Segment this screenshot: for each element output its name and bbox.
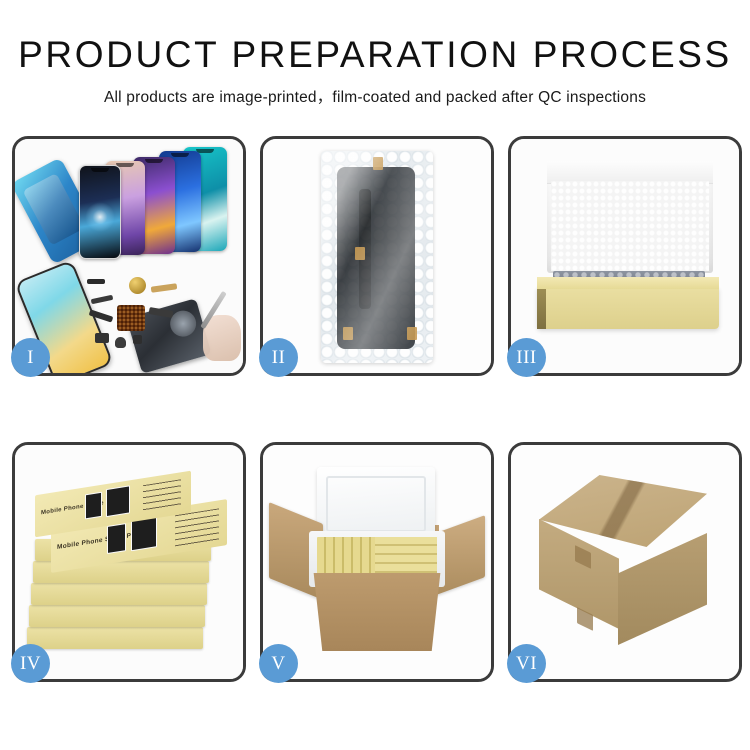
process-step-panel-2: II [260, 136, 494, 376]
step-badge-1: I [11, 338, 50, 377]
stacked-box [27, 627, 203, 649]
label-window [106, 485, 130, 517]
notch-icon [145, 159, 163, 163]
label-window [107, 523, 126, 554]
header: PRODUCT PREPARATION PROCESS All products… [0, 0, 750, 107]
stacked-box [29, 605, 205, 627]
small-part [115, 337, 126, 348]
process-step-panel-4: Mobile Phone Spare Parts Mobile Phone Sp… [12, 442, 246, 682]
wallpaper-burst [85, 202, 115, 232]
tape-strip [407, 327, 417, 340]
page-subtitle: All products are image-printed，film-coat… [0, 85, 750, 107]
product-preparation-infographic: PRODUCT PREPARATION PROCESS All products… [0, 0, 750, 750]
tape-strip [355, 247, 365, 260]
label-spec-lines [175, 508, 219, 549]
flex-cable-part [151, 283, 178, 293]
small-part [87, 279, 105, 284]
step-5-photo [263, 445, 491, 679]
step-badge-4: IV [11, 644, 50, 683]
tape-strip [373, 157, 383, 170]
spare-parts-cluster [89, 279, 209, 369]
process-step-panel-6: VI [508, 442, 742, 682]
process-step-grid: I II III [12, 136, 738, 682]
notch-icon [171, 153, 189, 157]
phone-lineup [75, 147, 243, 267]
wrapped-screen [337, 167, 415, 349]
carton-front-wall [305, 573, 449, 651]
box-stack: Mobile Phone Spare Parts Mobile Phone Sp… [21, 459, 241, 665]
flex-cable-part [91, 295, 114, 304]
bubble-wrap-bag [321, 151, 433, 363]
stacked-box [31, 583, 207, 605]
process-step-panel-5: V [260, 442, 494, 682]
foam-sheet [551, 181, 709, 271]
step-badge-2: II [259, 338, 298, 377]
step-4-photo: Mobile Phone Spare Parts Mobile Phone Sp… [15, 445, 243, 679]
step-badge-3: III [507, 338, 546, 377]
coil-part [129, 277, 146, 294]
flex-cable-part [149, 307, 174, 318]
yellow-box-base [537, 287, 719, 329]
phone-5-front-glass [79, 165, 121, 259]
step-6-photo [511, 445, 739, 679]
foam-lid-open [317, 467, 435, 541]
step-3-photo [511, 139, 739, 373]
small-part [95, 333, 109, 343]
process-step-panel-1: I [12, 136, 246, 376]
step-1-photo [15, 139, 243, 373]
step-badge-6: VI [507, 644, 546, 683]
step-2-photo [263, 139, 491, 373]
label-spec-lines [143, 479, 181, 513]
page-title: PRODUCT PREPARATION PROCESS [0, 36, 750, 73]
carton-right-face [618, 533, 707, 645]
small-part [133, 335, 142, 344]
label-window [85, 492, 102, 520]
notch-icon [91, 168, 109, 172]
tape-strip [343, 327, 353, 340]
flex-cable-part [89, 309, 114, 322]
process-step-panel-3: III [508, 136, 742, 376]
step-badge-5: V [259, 644, 298, 683]
chip-grid-part [117, 305, 145, 331]
